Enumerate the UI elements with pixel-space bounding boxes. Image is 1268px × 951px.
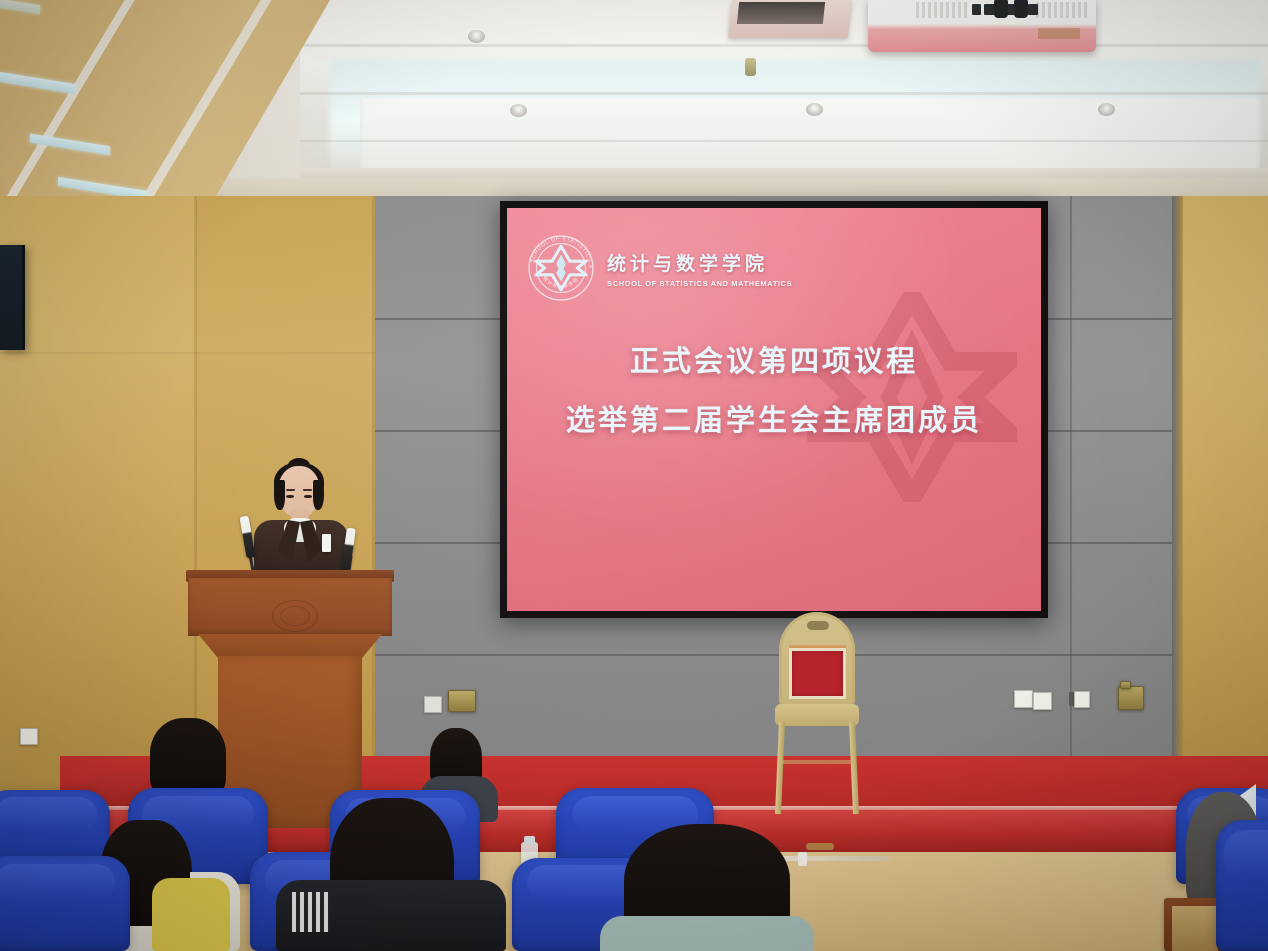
jacket-graphic [292,892,330,932]
podium-emblem-icon [272,600,318,632]
wood-wall-panel [1183,196,1268,796]
acoustic-wall-edge [1172,196,1182,756]
audience-seat [0,856,130,951]
chair-leg [849,722,859,814]
podium-bevel [198,634,382,658]
audience-member-hair [150,718,226,798]
audience-member-body [152,878,230,951]
auditorium-photo: SCHOOL OF STATISTICS AND MATHEMATICS 统计与… [0,0,1268,951]
wall-outlet [424,696,442,713]
school-name-cn: 统计与数学学院 [607,249,792,276]
wall-brass-plate [448,690,476,712]
wall-outlet [20,728,38,745]
ceiling-sprinkler [745,58,756,76]
slide-line-2: 选举第二届学生会主席团成员 [507,407,1041,436]
projection-screen: SCHOOL OF STATISTICS AND MATHEMATICS 统计与… [507,208,1041,611]
presenter [248,458,354,580]
ceiling-seam [300,140,1268,142]
chair-handle-slot [807,621,829,630]
stage-floor-plate [806,843,834,850]
slide-body: 正式会议第四项议程 选举第二届学生会主席团成员 [507,348,1041,466]
wall-outlet [1033,692,1052,710]
wall-brass-plate [1118,686,1144,710]
school-name-en: SCHOOL OF STATISTICS AND MATHEMATICS [607,279,792,288]
school-seal-icon: SCHOOL OF STATISTICS AND MATHEMATICS 统计与… [527,234,595,302]
ceiling-downlight [510,104,527,117]
audience-seat [1216,820,1268,951]
presenter-eye [304,495,312,498]
ceiling-air-vent-slot [737,2,825,24]
presenter-brow [286,489,295,491]
presenter-badge [322,534,331,552]
presenter-hair-side [274,480,285,510]
ceiling-seam [300,92,1268,95]
presenter-eye [286,495,294,498]
stage-banquet-chair [767,612,867,814]
wooden-chair-arm-inner [1172,906,1218,951]
ceiling-downlight [468,30,485,43]
stage-cable-clip [798,852,807,866]
ceiling-downlight [806,103,823,116]
projection-screen-frame: SCHOOL OF STATISTICS AND MATHEMATICS 统计与… [500,201,1048,618]
wood-wall-seam [0,352,376,354]
wood-wall-panel [0,196,196,796]
wall-outlet [1074,691,1090,708]
ceiling-projector [868,0,1096,52]
chair-leg [775,722,785,814]
slide-line-1: 正式会议第四项议程 [507,348,1041,377]
audience-member-body [600,916,814,951]
water-bottle-cap [524,836,535,844]
presenter-hair-side [313,480,324,510]
wall-brass-plate-screw [1120,681,1131,689]
acoustic-panel-seam [1070,196,1072,756]
school-logo-lockup: SCHOOL OF STATISTICS AND MATHEMATICS 统计与… [527,234,792,302]
wall-outlet [1014,690,1033,708]
chair-cushion [789,648,846,699]
wall-speaker [0,245,25,350]
presenter-brow [303,489,312,491]
podium-front-panel [188,578,392,636]
chair-rail [779,760,855,764]
chair-seat [775,704,859,726]
ceiling-seam [300,44,1268,47]
ceiling-downlight [1098,103,1115,116]
